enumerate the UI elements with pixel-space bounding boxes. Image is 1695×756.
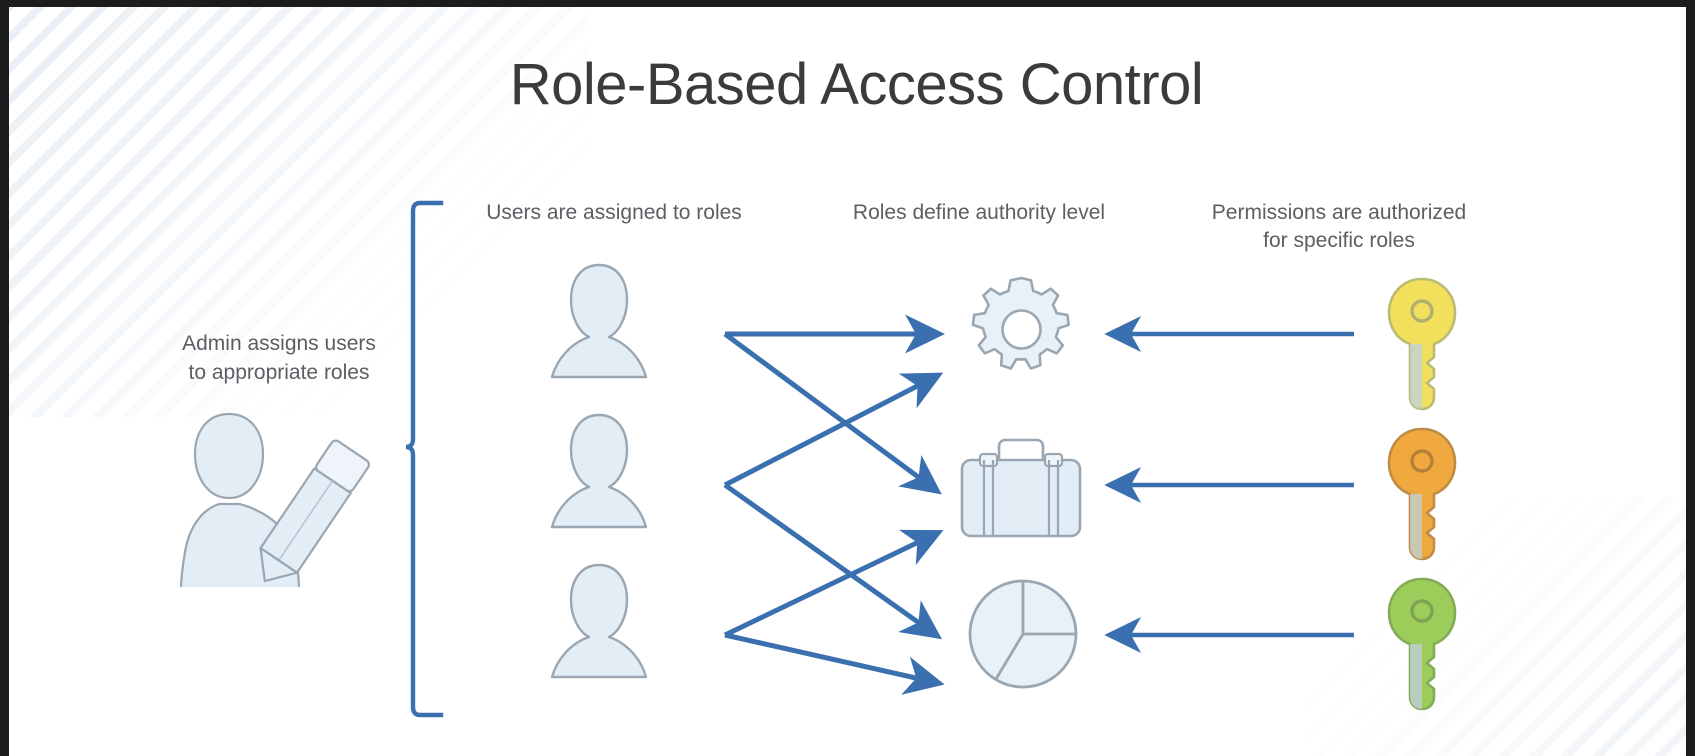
arrow-user3-to-piechart: [725, 635, 929, 681]
left-curly-brace: [406, 203, 441, 715]
key-icon: [1377, 425, 1467, 565]
gear-icon: [964, 272, 1079, 387]
column-header-permissions-line1: Permissions are authorized: [1212, 201, 1466, 224]
column-header-permissions-line2: for specific roles: [1263, 229, 1415, 252]
arrow-user1-to-briefcase: [725, 334, 929, 485]
user-silhouette-icon: [539, 259, 659, 379]
diagonal-stripe-watermark-bottom-right: [1306, 496, 1695, 756]
admin-assigns-label: Admin assigns users to appropriate roles: [119, 329, 439, 388]
briefcase-icon: [957, 432, 1085, 542]
admin-assigns-label-line2: to appropriate roles: [189, 361, 370, 384]
column-header-roles: Roles define authority level: [814, 199, 1144, 227]
key-icon: [1377, 575, 1467, 715]
admin-assigns-label-line1: Admin assigns users: [182, 332, 376, 355]
column-header-users: Users are assigned to roles: [449, 199, 779, 227]
arrow-user3-to-briefcase: [725, 537, 929, 635]
user-silhouette-icon: [539, 409, 659, 529]
page-title: Role-Based Access Control: [9, 55, 1695, 116]
user-silhouette-icon: [539, 559, 659, 679]
pie-chart-icon: [964, 575, 1082, 693]
slide-canvas: Role-Based Access Control Users are assi…: [0, 0, 1695, 756]
column-header-permissions: Permissions are authorized for specific …: [1164, 199, 1514, 256]
admin-user-with-pencil-icon: [149, 402, 379, 587]
key-icon: [1377, 275, 1467, 415]
arrow-user2-to-gear: [725, 380, 929, 485]
arrow-user2-to-piechart: [725, 485, 929, 630]
